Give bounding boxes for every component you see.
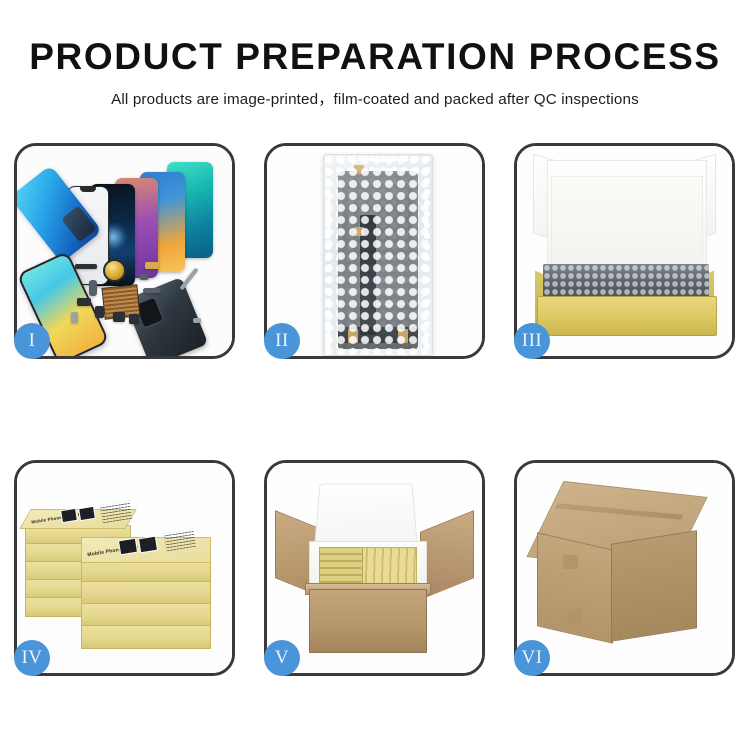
part-camera-icon bbox=[113, 312, 125, 322]
step-4-image: Mobile Phone Spare Parts Mobile Phone Sp… bbox=[17, 463, 232, 673]
bubble-wrap-layer-icon bbox=[543, 264, 709, 300]
sealed-carton-scene bbox=[517, 463, 732, 673]
step-badge-1: I bbox=[14, 323, 50, 359]
part-gold-connector-icon bbox=[145, 262, 159, 269]
page-title: PRODUCT PREPARATION PROCESS bbox=[0, 38, 750, 77]
process-step-card-1: I bbox=[14, 143, 235, 359]
box-window-back-2 bbox=[78, 506, 96, 521]
tape-tab-bottom-right-icon bbox=[398, 329, 408, 343]
bubble-wrap-scene bbox=[267, 146, 482, 356]
process-step-card-6: VI bbox=[514, 460, 735, 676]
white-foam-sheet-icon bbox=[551, 176, 703, 266]
step-badge-3: III bbox=[514, 323, 550, 359]
copper-coil-icon bbox=[103, 259, 126, 282]
part-tray-icon bbox=[71, 312, 78, 323]
screw-icon bbox=[193, 318, 201, 323]
page-header: PRODUCT PREPARATION PROCESS All products… bbox=[0, 0, 750, 109]
carton-foam-scene bbox=[267, 463, 482, 673]
stacked-boxes-scene: Mobile Phone Spare Parts Mobile Phone Sp… bbox=[17, 463, 232, 673]
box-front-panel-icon bbox=[537, 296, 717, 336]
tape-tab-mid-icon bbox=[354, 227, 364, 236]
carton-tape-lower-icon bbox=[567, 609, 582, 623]
part-flex-icon bbox=[139, 274, 149, 280]
stacked-box-fr-4 bbox=[81, 625, 211, 649]
step-badge-4: IV bbox=[14, 640, 50, 676]
process-step-card-2: II bbox=[264, 143, 485, 359]
step-1-image bbox=[17, 146, 232, 356]
process-step-card-4: Mobile Phone Spare Parts Mobile Phone Sp… bbox=[14, 460, 235, 676]
process-step-card-3: III bbox=[514, 143, 735, 359]
stacked-box-fr-2 bbox=[81, 581, 211, 605]
phone-parts-scene bbox=[17, 146, 232, 356]
process-step-card-5: V bbox=[264, 460, 485, 676]
carton-left-face-icon bbox=[537, 532, 613, 644]
step-badge-6: VI bbox=[514, 640, 550, 676]
box-window-back-1 bbox=[60, 508, 78, 523]
part-strip-icon bbox=[75, 264, 97, 269]
step-badge-2: II bbox=[264, 323, 300, 359]
part-block-icon bbox=[77, 298, 91, 306]
tape-tab-top-icon bbox=[354, 165, 364, 174]
carton-right-face-icon bbox=[611, 530, 697, 642]
tape-tab-bottom-left-icon bbox=[348, 329, 358, 343]
box-window-front-1 bbox=[118, 538, 138, 556]
step-3-image bbox=[517, 146, 732, 356]
part-ribbon-icon bbox=[143, 288, 161, 293]
step-6-image bbox=[517, 463, 732, 673]
wrapped-screen-icon bbox=[338, 171, 418, 343]
part-speaker-icon bbox=[129, 314, 139, 324]
stacked-box-fr-3 bbox=[81, 603, 211, 627]
carton-front-panel-icon bbox=[309, 589, 427, 653]
screwdriver-icon bbox=[179, 268, 198, 291]
carton-tape-upper-icon bbox=[563, 555, 578, 569]
foam-cooler-lid-icon bbox=[314, 484, 418, 546]
step-badge-5: V bbox=[264, 640, 300, 676]
box-window-front-2 bbox=[138, 536, 158, 554]
step-2-image bbox=[267, 146, 482, 356]
open-box-scene bbox=[517, 146, 732, 356]
part-small-icon bbox=[95, 306, 104, 318]
bubble-wrap-bag-icon bbox=[323, 154, 433, 356]
part-flex-2-icon bbox=[89, 280, 97, 296]
page-subtitle: All products are image-printed，film-coat… bbox=[0, 87, 750, 109]
process-step-grid: I II bbox=[14, 143, 736, 676]
step-5-image bbox=[267, 463, 482, 673]
